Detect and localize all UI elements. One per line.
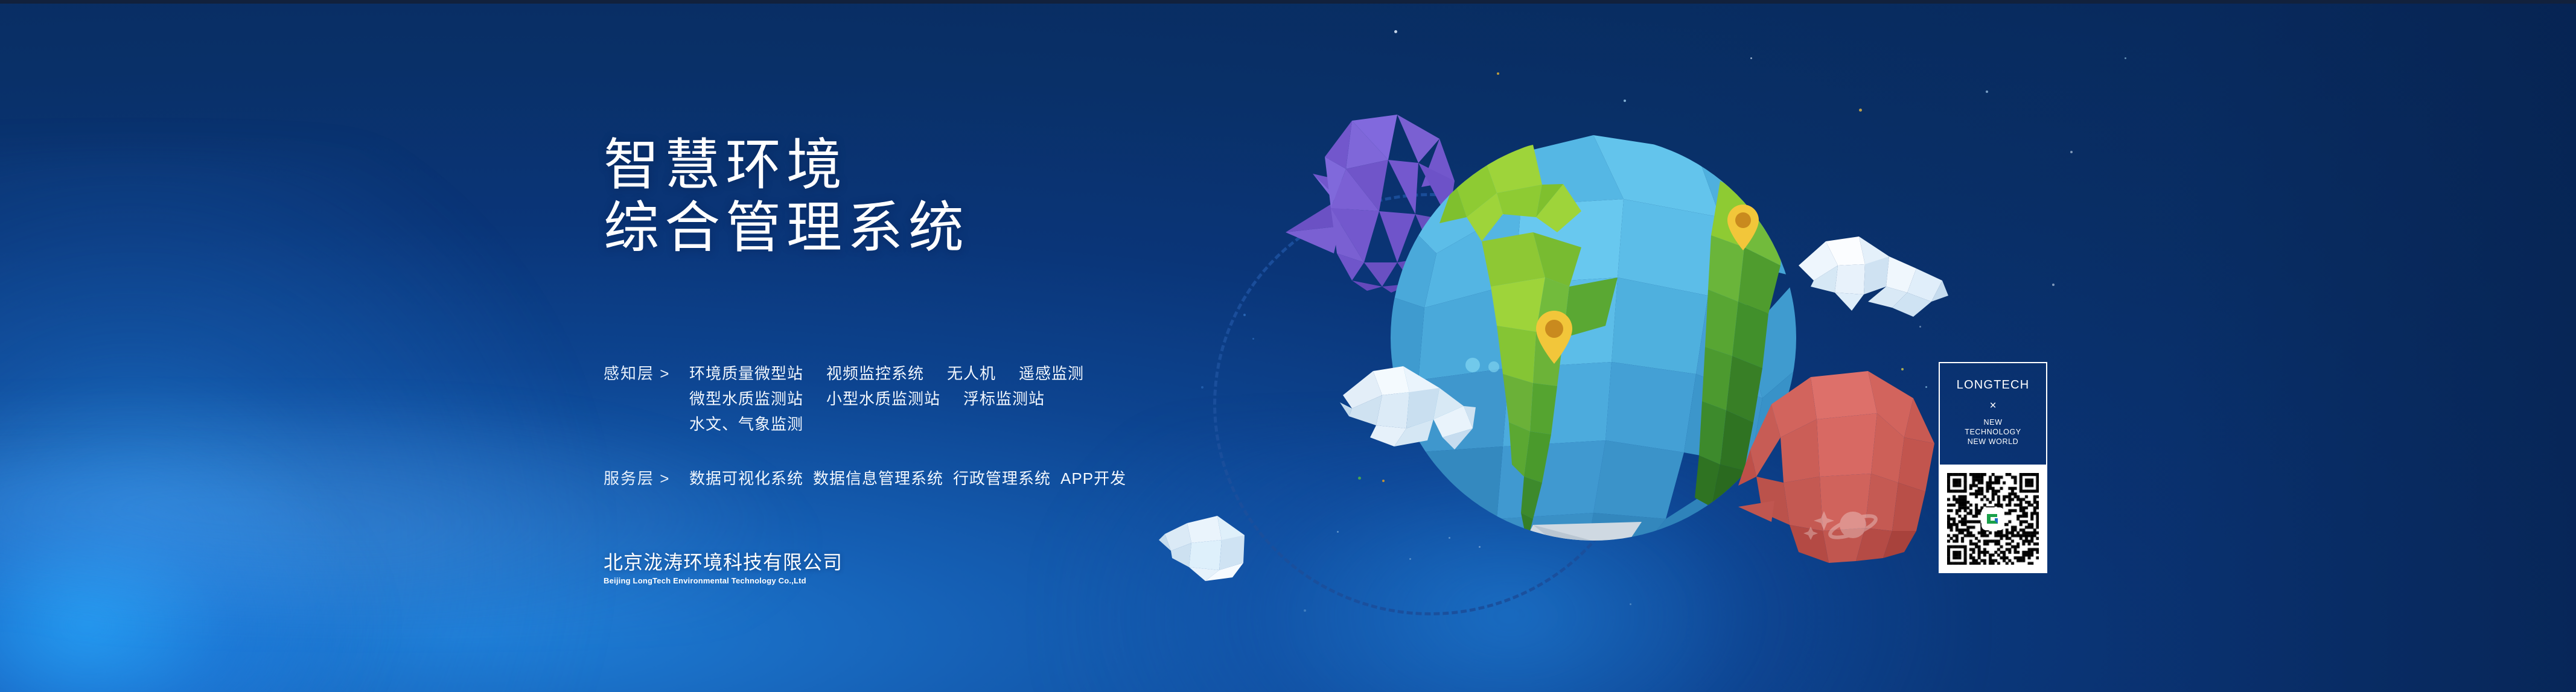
layer-item[interactable]: 数据信息管理系统: [813, 466, 943, 491]
cloud-icon-left: [1325, 359, 1482, 456]
qr-tagline-line-3: NEW WORLD: [1965, 437, 2021, 446]
layer-line: 数据可视化系统数据信息管理系统行政管理系统APP开发: [689, 466, 1136, 491]
wechat-logo-icon: [1983, 509, 2003, 529]
qr-separator-icon: ×: [1989, 396, 1996, 416]
layer-item[interactable]: 视频监控系统: [826, 361, 924, 386]
banner-root: 智慧环境 综合管理系统 感知层 >环境质量微型站视频监控系统无人机遥感监测微型水…: [0, 0, 2576, 692]
layer-list: 感知层 >环境质量微型站视频监控系统无人机遥感监测微型水质监测站小型水质监测站浮…: [604, 361, 1136, 520]
layer-item[interactable]: 无人机: [947, 361, 996, 386]
company-name-cn: 北京泷涛环境科技有限公司: [604, 550, 843, 574]
qr-card[interactable]: LONGTECH × NEW TECHNOLOGY NEW WORLD: [1939, 362, 2047, 573]
qr-brand-label: LONGTECH: [1957, 378, 2030, 392]
qr-tagline-line-2: TECHNOLOGY: [1965, 427, 2021, 437]
layer-item[interactable]: 水文、气象监测: [689, 411, 803, 437]
qr-code-panel[interactable]: [1939, 465, 2047, 573]
qr-tagline-line-1: NEW: [1965, 417, 2021, 427]
layer-item[interactable]: 遥感监测: [1019, 361, 1084, 386]
layer-line: 微型水质监测站小型水质监测站浮标监测站: [689, 386, 1084, 411]
layer-row: 感知层 >环境质量微型站视频监控系统无人机遥感监测微型水质监测站小型水质监测站浮…: [604, 361, 1136, 437]
layer-item[interactable]: 行政管理系统: [953, 466, 1051, 491]
layer-item[interactable]: 微型水质监测站: [689, 386, 803, 411]
cloud-icon-bottom: [1154, 510, 1269, 582]
qr-code-image[interactable]: [1947, 473, 2039, 565]
layer-item[interactable]: 环境质量微型站: [689, 361, 803, 386]
layer-line: 环境质量微型站视频监控系统无人机遥感监测: [689, 361, 1084, 386]
layer-item[interactable]: 小型水质监测站: [826, 386, 940, 411]
headline-line-2: 综合管理系统: [604, 197, 969, 259]
qr-tagline: NEW TECHNOLOGY NEW WORLD: [1965, 417, 2021, 446]
company-name-en: Beijing LongTech Environmental Technolog…: [604, 575, 843, 587]
layer-items: 环境质量微型站视频监控系统无人机遥感监测微型水质监测站小型水质监测站浮标监测站水…: [689, 361, 1084, 437]
headline-line-1: 智慧环境: [604, 135, 847, 196]
cloud-icon-right: [1787, 223, 1950, 332]
red-planet-icon: [1738, 371, 1937, 564]
layer-label: 服务层 >: [604, 466, 689, 491]
layer-item[interactable]: 数据可视化系统: [689, 466, 803, 491]
page-title: 智慧环境 综合管理系统: [604, 134, 969, 259]
layer-items: 数据可视化系统数据信息管理系统行政管理系统APP开发: [689, 466, 1136, 491]
company-block: 北京泷涛环境科技有限公司 Beijing LongTech Environmen…: [604, 550, 843, 587]
layer-row: 服务层 >数据可视化系统数据信息管理系统行政管理系统APP开发: [604, 466, 1136, 491]
layer-item[interactable]: 浮标监测站: [963, 386, 1045, 411]
layer-item[interactable]: APP开发: [1060, 466, 1126, 491]
qr-card-header: LONGTECH × NEW TECHNOLOGY NEW WORLD: [1939, 362, 2047, 465]
layer-label: 感知层 >: [604, 361, 689, 386]
layer-line: 水文、气象监测: [689, 411, 1084, 437]
illustration-scene: [0, 0, 2576, 692]
